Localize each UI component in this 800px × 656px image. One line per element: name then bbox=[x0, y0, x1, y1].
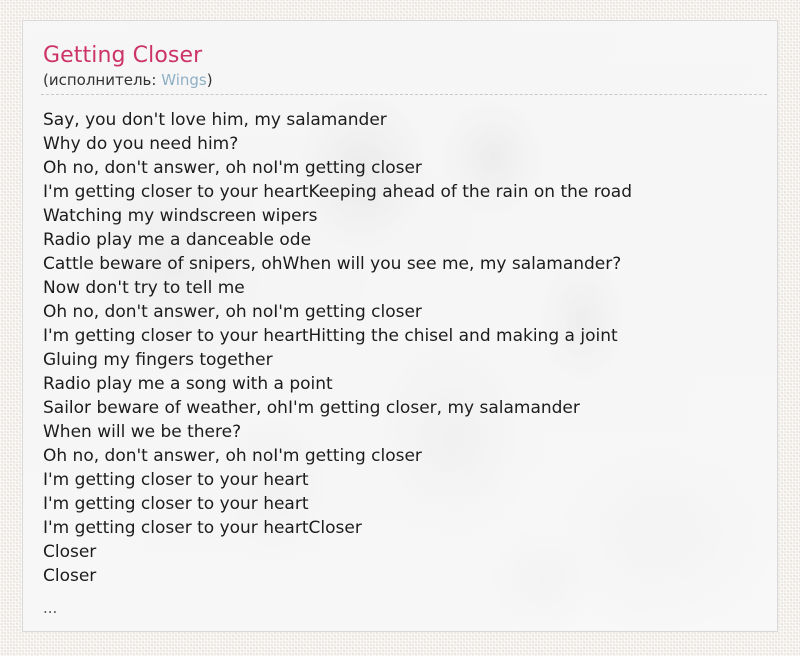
lyric-line: Watching my windscreen wipers bbox=[43, 204, 761, 228]
page-title: Getting Closer bbox=[43, 43, 767, 69]
lyric-line: I'm getting closer to your heartCloser bbox=[43, 516, 761, 540]
card-content: Getting Closer (исполнитель: Wings) Say,… bbox=[23, 21, 777, 631]
lyric-line: Closer bbox=[43, 564, 761, 588]
lyric-line: Why do you need him? bbox=[43, 132, 761, 156]
lyric-line: Radio play me a song with a point bbox=[43, 372, 761, 396]
artist-line: (исполнитель: Wings) bbox=[43, 71, 767, 90]
lyric-line: Now don't try to tell me bbox=[43, 276, 761, 300]
lyric-line: I'm getting closer to your heart bbox=[43, 468, 761, 492]
lyric-ellipsis: ... bbox=[43, 596, 761, 620]
lyric-line: Radio play me a danceable ode bbox=[43, 228, 761, 252]
lyric-line: Oh no, don't answer, oh noI'm getting cl… bbox=[43, 444, 761, 468]
song-header: Getting Closer (исполнитель: Wings) bbox=[41, 43, 767, 95]
lyric-line: When will we be there? bbox=[43, 420, 761, 444]
lyric-line: Oh no, don't answer, oh noI'm getting cl… bbox=[43, 156, 761, 180]
lyric-line: I'm getting closer to your heartHitting … bbox=[43, 324, 761, 348]
lyric-line: Closer bbox=[43, 540, 761, 564]
lyric-line: Oh no, don't answer, oh noI'm getting cl… bbox=[43, 300, 761, 324]
lyrics-card: Getting Closer (исполнитель: Wings) Say,… bbox=[22, 20, 778, 632]
lyric-line: Cattle beware of snipers, ohWhen will yo… bbox=[43, 252, 761, 276]
artist-prefix-label: (исполнитель: bbox=[43, 71, 161, 89]
lyric-line: Say, you don't love him, my salamander bbox=[43, 108, 761, 132]
lyrics-text: Say, you don't love him, my salamander W… bbox=[43, 108, 761, 620]
lyric-line: I'm getting closer to your heartKeeping … bbox=[43, 180, 761, 204]
lyric-line: Sailor beware of weather, ohI'm getting … bbox=[43, 396, 761, 420]
artist-link[interactable]: Wings bbox=[161, 71, 207, 89]
lyric-line: I'm getting closer to your heart bbox=[43, 492, 761, 516]
lyric-line: Gluing my fingers together bbox=[43, 348, 761, 372]
artist-suffix-label: ) bbox=[207, 71, 213, 89]
